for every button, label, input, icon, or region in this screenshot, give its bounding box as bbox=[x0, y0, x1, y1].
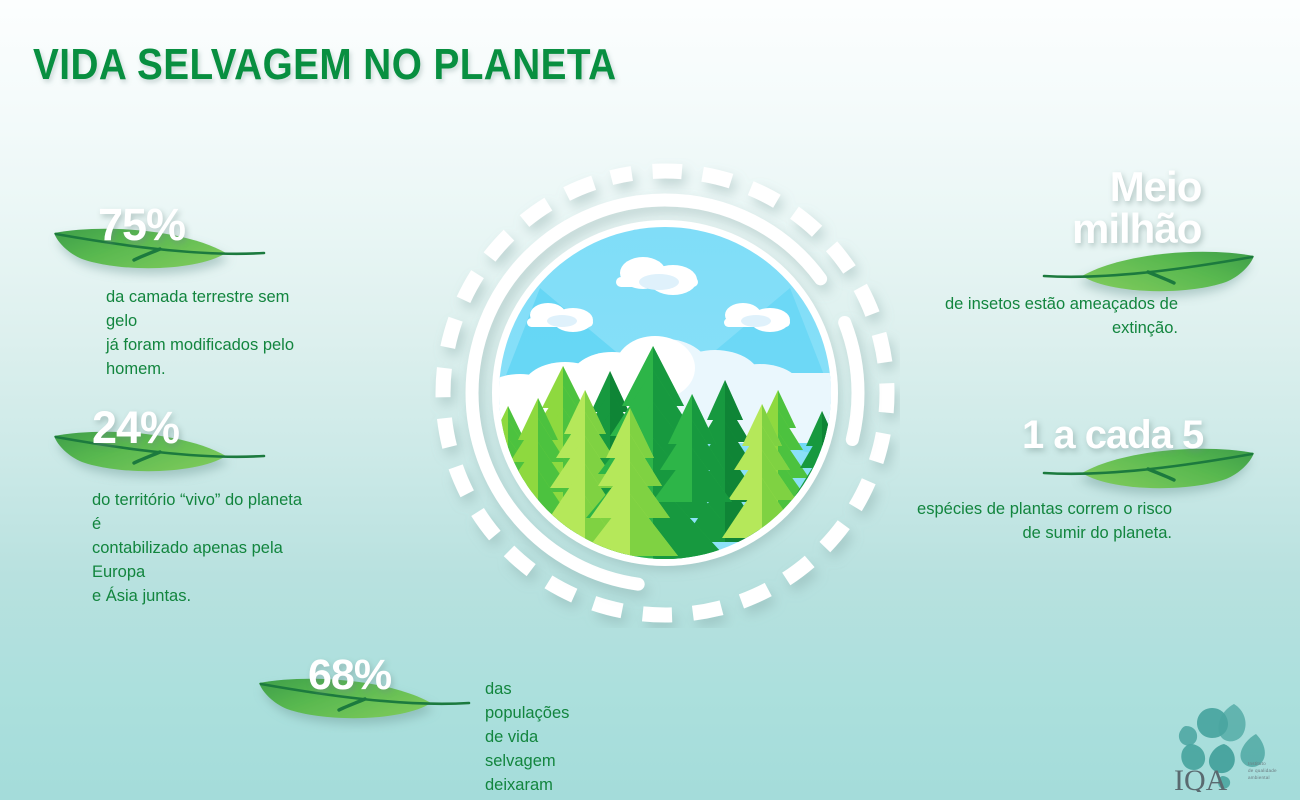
page-title: VIDA SELVAGEM NO PLANETA bbox=[33, 42, 616, 88]
stat-value: 68% bbox=[308, 651, 391, 700]
stat-block-68: 68% das populações de vida selvagem deix… bbox=[253, 655, 513, 733]
stat-block-1-a-cada-5: 1 a cada 5 espécies de plantas correm o … bbox=[1000, 425, 1260, 503]
forest-circle-illustration bbox=[430, 158, 900, 628]
stat-description: de insetos estão ameaçados de extinção. bbox=[878, 292, 1178, 340]
stat-value: 1 a cada 5 bbox=[1022, 413, 1203, 458]
stat-value: 75% bbox=[98, 199, 185, 251]
stat-description: espécies de plantas correm o risco de su… bbox=[852, 497, 1172, 545]
stat-block-24: 24% do território “vivo” do planeta é co… bbox=[48, 408, 308, 486]
stat-value: Meio milhão bbox=[1072, 166, 1201, 250]
stat-block-75: 75% da camada terrestre sem gelo já fora… bbox=[48, 205, 308, 283]
forest-scene bbox=[474, 218, 849, 568]
logo-subtitle: Instituto de qualidade ambiental bbox=[1248, 760, 1292, 781]
iqa-logo: IQA Instituto de qualidade ambiental bbox=[1172, 700, 1290, 792]
logo-wordmark: IQA bbox=[1174, 764, 1228, 792]
stat-description: da camada terrestre sem gelo já foram mo… bbox=[106, 285, 308, 381]
stat-block-meio-milhao: Meio milhão de insetos estão ameaçados d… bbox=[1000, 228, 1260, 306]
stat-description: das populações de vida selvagem deixaram… bbox=[485, 677, 569, 800]
stat-description: do território “vivo” do planeta é contab… bbox=[92, 488, 308, 608]
stat-value: 24% bbox=[92, 402, 179, 454]
